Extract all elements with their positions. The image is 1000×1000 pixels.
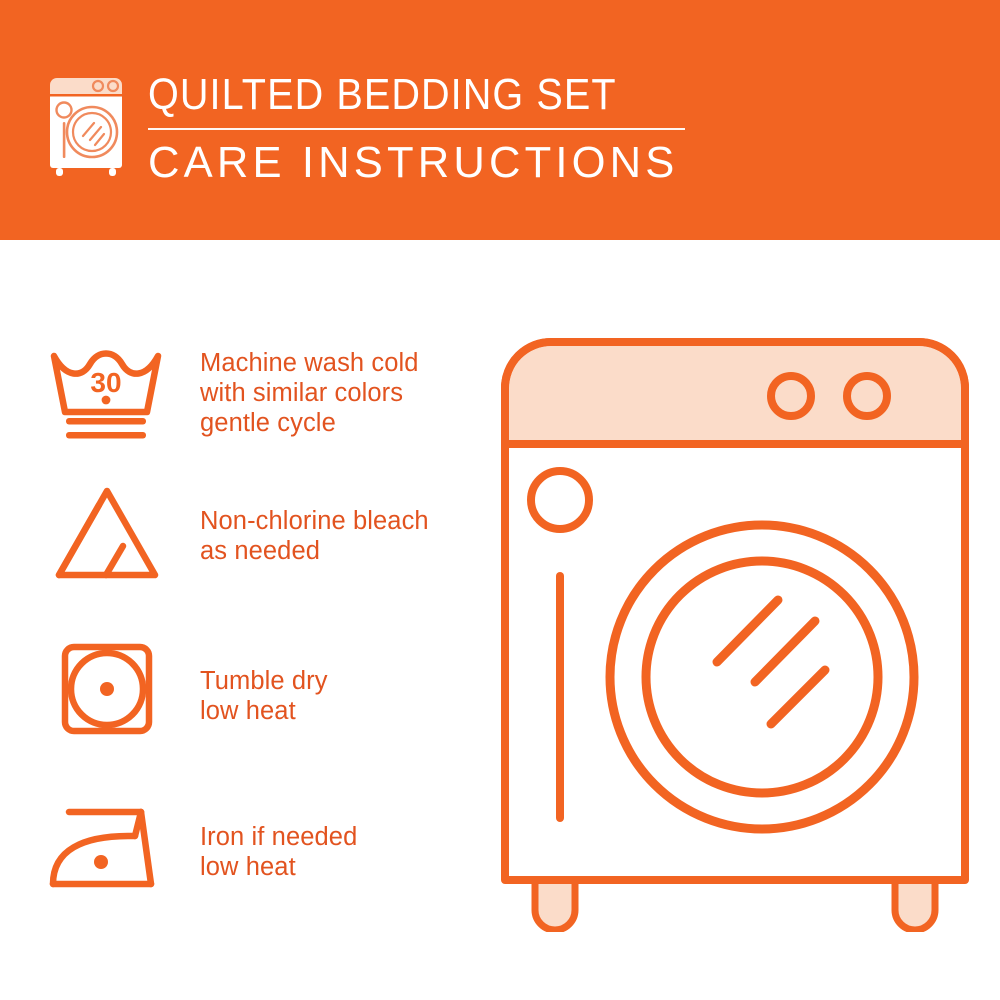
- care-text-line-1: Non-chlorine bleach: [200, 506, 429, 536]
- care-row-iron: Iron if needed low heat: [0, 792, 500, 902]
- care-text-tumble-dry: Tumble dry low heat: [200, 666, 328, 726]
- care-row-tumble-dry: Tumble dry low heat: [0, 642, 500, 752]
- care-text-wash: Machine wash cold with similar colors ge…: [200, 348, 419, 438]
- non-chlorine-bleach-triangle-icon: [53, 485, 161, 586]
- care-text-line-2: with similar colors: [200, 378, 419, 408]
- tumble-dry-low-heat-icon: [60, 642, 154, 741]
- iron-low-heat-icon: [47, 804, 165, 897]
- care-row-wash: 30 Machine wash cold with similar colors…: [0, 330, 500, 470]
- care-text-line-1: Iron if needed: [200, 822, 357, 852]
- care-text-line-1: Tumble dry: [200, 666, 328, 696]
- care-row-bleach: Non-chlorine bleach as needed: [0, 480, 500, 590]
- washing-machine-icon: [44, 72, 136, 176]
- title-divider: [148, 128, 685, 130]
- care-instructions-page: QUILTED BEDDING SET CARE INSTRUCTIONS: [0, 0, 1000, 1000]
- care-text-line-1: Machine wash cold: [200, 348, 419, 378]
- page-title: QUILTED BEDDING SET: [148, 70, 652, 120]
- care-text-line-2: low heat: [200, 852, 357, 882]
- care-text-line-2: as needed: [200, 536, 429, 566]
- care-text-line-3: gentle cycle: [200, 408, 419, 438]
- care-text-bleach: Non-chlorine bleach as needed: [200, 506, 429, 566]
- care-text-iron: Iron if needed low heat: [200, 822, 357, 882]
- care-text-line-2: low heat: [200, 696, 328, 726]
- side-accent-line: [556, 572, 564, 822]
- wash-tub-30-gentle-icon: 30: [48, 348, 164, 453]
- page-subtitle: CARE INSTRUCTIONS: [148, 136, 702, 190]
- wash-temp-value: 30: [90, 367, 121, 398]
- header-band: QUILTED BEDDING SET CARE INSTRUCTIONS: [0, 0, 1000, 240]
- front-load-washing-machine-illustration: [495, 332, 975, 932]
- header-title-group: QUILTED BEDDING SET CARE INSTRUCTIONS: [148, 70, 708, 190]
